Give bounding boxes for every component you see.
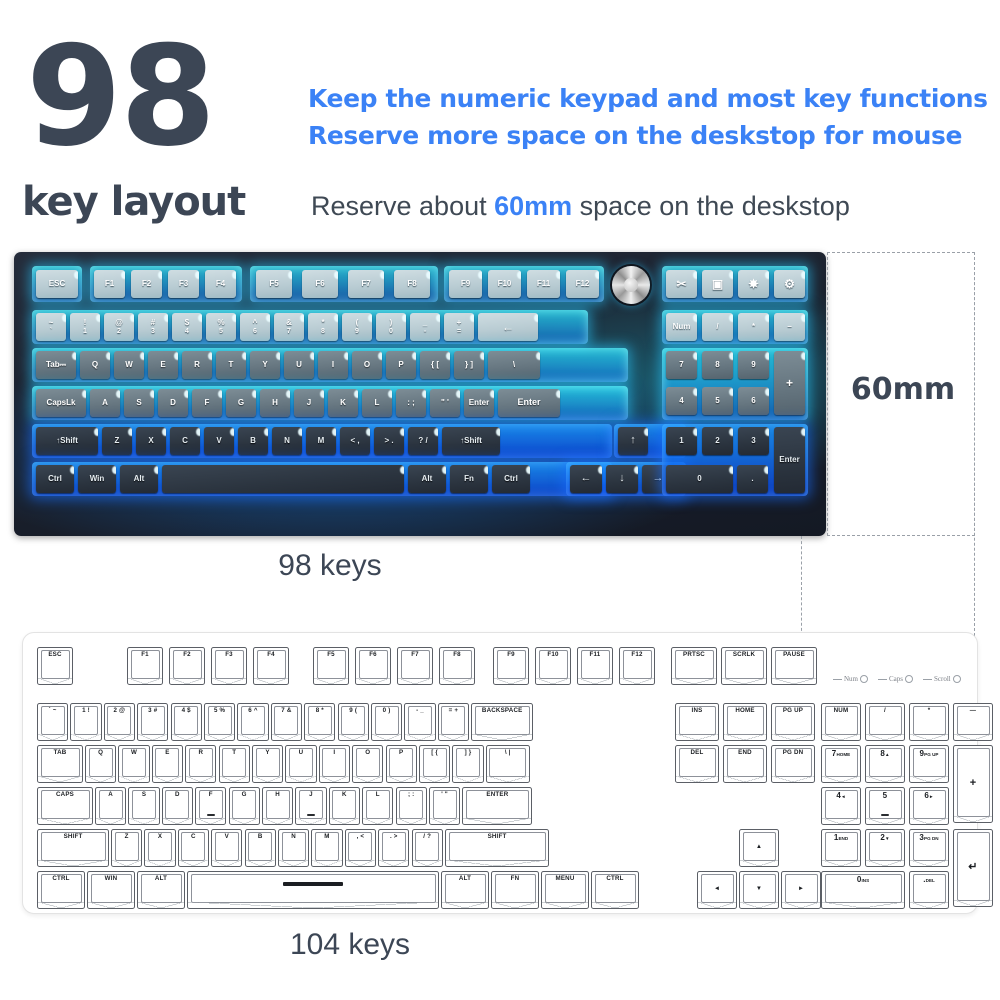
dimension-guide-left [801,536,802,636]
key-layout-label: key layout [22,180,245,224]
key-x[interactable]: X [136,427,166,455]
key104-num7[interactable]: 7 & [271,703,302,741]
key-num-minus[interactable]: − [774,313,805,341]
key-5[interactable]: %5 [206,313,236,341]
keyboard-98-chassis: ESCF1F2F3F4F5F6F7F8F9F10F11F12✂▣✸⚙~`!1@2… [14,252,826,536]
key-[interactable]: < , [340,427,370,455]
key104-np-5[interactable]: 5 [865,787,905,825]
key-arrow-left[interactable]: ← [570,465,602,493]
key104-i[interactable]: I [319,745,350,783]
big-number-98: 98 [26,28,214,166]
key-num-enter[interactable]: Enter [774,427,805,493]
key-6[interactable]: ^6 [240,313,270,341]
homing-bump [881,814,889,816]
key-num-3[interactable]: 3 [738,427,769,455]
key-e[interactable]: E [148,351,178,379]
key104-n[interactable]: N [278,829,309,867]
volume-knob[interactable] [612,266,650,304]
key104-pause[interactable]: PAUSE [771,647,817,685]
key-f6[interactable]: F6 [302,270,338,298]
key104-f10[interactable]: F10 [535,647,571,685]
key104-num8[interactable]: 8 * [304,703,335,741]
key104-h[interactable]: H [262,787,293,825]
key-j[interactable]: J [294,389,324,417]
key-backslash[interactable]: \ [488,351,540,379]
key-num-2[interactable]: 2 [702,427,733,455]
key-f5[interactable]: F5 [256,270,292,298]
key104-menu[interactable]: MENU [541,871,589,909]
key-[interactable]: { [ [420,351,450,379]
key104-num9[interactable]: 9 ( [338,703,369,741]
key-g[interactable]: G [226,389,256,417]
key104-lshift[interactable]: SHIFT [37,829,109,867]
key-numlock[interactable]: Num [666,313,697,341]
key-p[interactable]: P [386,351,416,379]
key-ralt[interactable]: Alt [408,465,446,493]
key104-num10[interactable]: 0 ) [371,703,402,741]
key104-num5[interactable]: 5 % [204,703,235,741]
key104-w[interactable]: W [118,745,149,783]
led-label-scroll: Scroll [934,675,951,683]
key104-f5[interactable]: F5 [313,647,349,685]
key-lalt[interactable]: Alt [120,465,158,493]
spacebar-marker [283,882,343,886]
key104-pgup[interactable]: PG UP [771,703,815,741]
key-lctrl[interactable]: Ctrl [36,465,74,493]
key104-np-7[interactable]: 7HOME [821,745,861,783]
key104-f6[interactable]: F6 [355,647,391,685]
key104-[interactable]: [ { [419,745,450,783]
key104-c[interactable]: C [178,829,209,867]
key-enter[interactable]: Enter [464,389,494,417]
key-f12[interactable]: F12 [566,270,599,298]
key104-[interactable]: ] } [452,745,483,783]
key104-num11[interactable]: - _ [404,703,435,741]
key104-np-plus[interactable]: + [953,745,993,823]
key-num-6[interactable]: 6 [738,387,769,415]
key104-[interactable]: , < [345,829,376,867]
key-`[interactable]: ~` [36,313,66,341]
subheadline-prefix: Reserve about [311,191,494,221]
key104-num3[interactable]: 3 # [137,703,168,741]
key-[interactable]: : ; [396,389,426,417]
key-f9[interactable]: F9 [449,270,482,298]
key104-np-enter[interactable]: ↵ [953,829,993,907]
key104-u[interactable]: U [285,745,316,783]
key104-f3[interactable]: F3 [211,647,247,685]
key-arrow-up[interactable]: ↑ [618,427,648,455]
key-shuffle-icon[interactable]: ✂ [666,270,697,298]
key104-np-4[interactable]: 4◄ [821,787,861,825]
key-capslock[interactable]: CapsLk [36,389,86,417]
key104-lalt[interactable]: ALT [137,871,185,909]
key104-f1[interactable]: F1 [127,647,163,685]
key104-np-3[interactable]: 3PG DN [909,829,949,867]
key104-np-dot[interactable]: .DEL [909,871,949,909]
key104-x[interactable]: X [144,829,175,867]
key104-[interactable]: / ? [412,829,443,867]
key104-num0[interactable]: ` ~ [37,703,68,741]
key104-f2[interactable]: F2 [169,647,205,685]
key-lshift[interactable]: ↑Shift [36,427,98,455]
key-num-divide[interactable]: / [702,313,733,341]
key104-q[interactable]: Q [85,745,116,783]
key-q[interactable]: Q [80,351,110,379]
key104-num2[interactable]: 2 @ [104,703,135,741]
key-rshift[interactable]: ↑Shift [442,427,500,455]
key-f[interactable]: F [192,389,222,417]
key104-z[interactable]: Z [111,829,142,867]
led-indicator-num [860,675,868,683]
key-9[interactable]: (9 [342,313,372,341]
key-esc[interactable]: ESC [36,270,78,298]
key--[interactable]: _- [410,313,440,341]
key104-home[interactable]: HOME [723,703,767,741]
key104-arrow-right[interactable]: ► [781,871,821,909]
homing-bump [307,814,315,816]
key-7[interactable]: &7 [274,313,304,341]
status-led-group: NumCapsScroll [833,675,967,683]
key-num-plus[interactable]: + [774,351,805,415]
homing-bump [207,814,215,816]
key-tab[interactable]: Tab⎓ [36,351,76,379]
key104-esc[interactable]: ESC [37,647,73,685]
key104-np-6[interactable]: 6► [909,787,949,825]
key-f11[interactable]: F11 [527,270,560,298]
key104-r[interactable]: R [185,745,216,783]
key104-arrow-up[interactable]: ▲ [739,829,779,867]
key-w[interactable]: W [114,351,144,379]
key104-np-2[interactable]: 2▼ [865,829,905,867]
key-c[interactable]: C [170,427,200,455]
led-indicator-caps [905,675,913,683]
key-num-dot[interactable]: . [737,465,768,493]
key104-np-multiply[interactable]: * [909,703,949,741]
key-4[interactable]: $4 [172,313,202,341]
key104-caps[interactable]: CAPS [37,787,93,825]
key-d[interactable]: D [158,389,188,417]
key104-ralt[interactable]: ALT [441,871,489,909]
subheadline-suffix: space on the deskstop [572,191,850,221]
key-z[interactable]: Z [102,427,132,455]
key-f1[interactable]: F1 [94,270,125,298]
key104-[interactable]: . > [378,829,409,867]
key-num-1[interactable]: 1 [666,427,697,455]
key104-v[interactable]: V [211,829,242,867]
key104-l[interactable]: L [362,787,393,825]
subheadline: Reserve about 60mm space on the deskstop [311,190,850,222]
key-bracket-right[interactable]: } ] [454,351,484,379]
key104-f7[interactable]: F7 [397,647,433,685]
key104-np-divide[interactable]: / [865,703,905,741]
key104-np-minus[interactable]: — [953,703,993,741]
key104-enter[interactable]: ENTER [462,787,532,825]
key-f8[interactable]: F8 [394,270,430,298]
key104-ins[interactable]: INS [675,703,719,741]
key104-num12[interactable]: = + [438,703,469,741]
key104-o[interactable]: O [352,745,383,783]
caption-98-keys: 98 keys [0,549,660,583]
key104-num6[interactable]: 6 ^ [237,703,268,741]
key104-num1[interactable]: 1 ! [70,703,101,741]
key-y[interactable]: Y [250,351,280,379]
keyboard-104-chassis: ESCF1F2F3F4F5F6F7F8F9F10F11F12PRTSCSCRLK… [22,632,978,914]
key-v[interactable]: V [204,427,234,455]
key104-np-9[interactable]: 9PG UP [909,745,949,783]
key-num-0[interactable]: 0 [666,465,733,493]
key104-backspace[interactable]: BACKSPACE [471,703,533,741]
key104-np-0[interactable]: 0INS [821,871,905,909]
key-star-icon[interactable]: ✸ [738,270,769,298]
key-s[interactable]: S [124,389,154,417]
key-=[interactable]: += [444,313,474,341]
headline-line-1: Keep the numeric keypad and most key fun… [308,84,988,114]
key104-f4[interactable]: F4 [253,647,289,685]
key104-y[interactable]: Y [252,745,283,783]
key-r[interactable]: R [182,351,212,379]
key-m[interactable]: M [306,427,336,455]
key104-m[interactable]: M [311,829,342,867]
key104-j[interactable]: J [295,787,326,825]
key-t[interactable]: T [216,351,246,379]
key-h[interactable]: H [260,389,290,417]
key-o[interactable]: O [352,351,382,379]
key104-[interactable]: ; : [396,787,427,825]
key-rctrl[interactable]: Ctrl [492,465,530,493]
key104-t[interactable]: T [219,745,250,783]
key104-arrow-left[interactable]: ◄ [697,871,737,909]
keyboard-104-illustration: ESCF1F2F3F4F5F6F7F8F9F10F11F12PRTSCSCRLK… [22,632,978,914]
key-[interactable]: " ' [430,389,460,417]
key104-arrow-down[interactable]: ▼ [739,871,779,909]
key104-fn[interactable]: FN [491,871,539,909]
key104-g[interactable]: G [229,787,260,825]
key-3[interactable]: #3 [138,313,168,341]
key-num-9[interactable]: 9 [738,351,769,379]
key-f4[interactable]: F4 [205,270,236,298]
key104-d[interactable]: D [162,787,193,825]
key-8[interactable]: *8 [308,313,338,341]
key104-prtsc[interactable]: PRTSC [671,647,717,685]
key104-p[interactable]: P [386,745,417,783]
key104-e[interactable]: E [152,745,183,783]
key104-k[interactable]: K [329,787,360,825]
key104-[interactable]: ' " [429,787,460,825]
key-num-8[interactable]: 8 [702,351,733,379]
key104-a[interactable]: A [95,787,126,825]
key104-lctrl[interactable]: CTRL [37,871,85,909]
key-screenshot-icon[interactable]: ▣ [702,270,733,298]
key-win[interactable]: Win [78,465,116,493]
key-b[interactable]: B [238,427,268,455]
key104-np-1[interactable]: 1END [821,829,861,867]
key-num-multiply[interactable]: * [738,313,769,341]
key-arrow-down[interactable]: ↓ [606,465,638,493]
led-indicator-scroll [953,675,961,683]
key-num-7[interactable]: 7 [666,351,697,379]
key-[interactable]: ? / [408,427,438,455]
key104-scrlk[interactable]: SCRLK [721,647,767,685]
led-label-num: Num [844,675,858,683]
key104-f9[interactable]: F9 [493,647,529,685]
caption-104-keys: 104 keys [0,928,700,962]
key-f3[interactable]: F3 [168,270,199,298]
key-f7[interactable]: F7 [348,270,384,298]
key104-rctrl[interactable]: CTRL [591,871,639,909]
key104-[interactable]: \ | [486,745,530,783]
key104-space[interactable] [187,871,439,909]
key-backspace[interactable]: ← [478,313,538,341]
key104-f11[interactable]: F11 [577,647,613,685]
key-num-5[interactable]: 5 [702,387,733,415]
key104-pgdn[interactable]: PG DN [771,745,815,783]
subheadline-highlight: 60mm [494,191,572,221]
key-enter[interactable]: Enter [498,389,560,417]
key-settings-icon[interactable]: ⚙ [774,270,805,298]
led-label-caps: Caps [889,675,903,683]
key104-s[interactable]: S [128,787,159,825]
header-block: 98 key layout Keep the numeric keypad an… [0,0,1000,238]
key-k[interactable]: K [328,389,358,417]
key104-np-8[interactable]: 8▲ [865,745,905,783]
key-f10[interactable]: F10 [488,270,521,298]
key104-b[interactable]: B [245,829,276,867]
key-fn[interactable]: Fn [450,465,488,493]
key104-num4[interactable]: 4 $ [171,703,202,741]
headline-line-2: Reserve more space on the deskstop for m… [308,121,962,151]
dimension-label-60mm: 60mm [833,372,973,407]
key-space[interactable] [162,465,404,493]
key-l[interactable]: L [362,389,392,417]
key-i[interactable]: I [318,351,348,379]
key104-numlock[interactable]: NUM [821,703,861,741]
key104-f12[interactable]: F12 [619,647,655,685]
dimension-guide-right [974,252,975,636]
key104-del[interactable]: DEL [675,745,719,783]
key104-tab[interactable]: TAB [37,745,83,783]
key-0[interactable]: )0 [376,313,406,341]
key-2[interactable]: @2 [104,313,134,341]
key-a[interactable]: A [90,389,120,417]
key104-end[interactable]: END [723,745,767,783]
key-1[interactable]: !1 [70,313,100,341]
key104-win[interactable]: WIN [87,871,135,909]
key-num-4[interactable]: 4 [666,387,697,415]
key-f2[interactable]: F2 [131,270,162,298]
key104-f[interactable]: F [195,787,226,825]
key-u[interactable]: U [284,351,314,379]
keyboard-98-image: ESCF1F2F3F4F5F6F7F8F9F10F11F12✂▣✸⚙~`!1@2… [14,252,826,536]
key-[interactable]: > . [374,427,404,455]
key104-f8[interactable]: F8 [439,647,475,685]
key-n[interactable]: N [272,427,302,455]
key104-rshift[interactable]: SHIFT [445,829,549,867]
